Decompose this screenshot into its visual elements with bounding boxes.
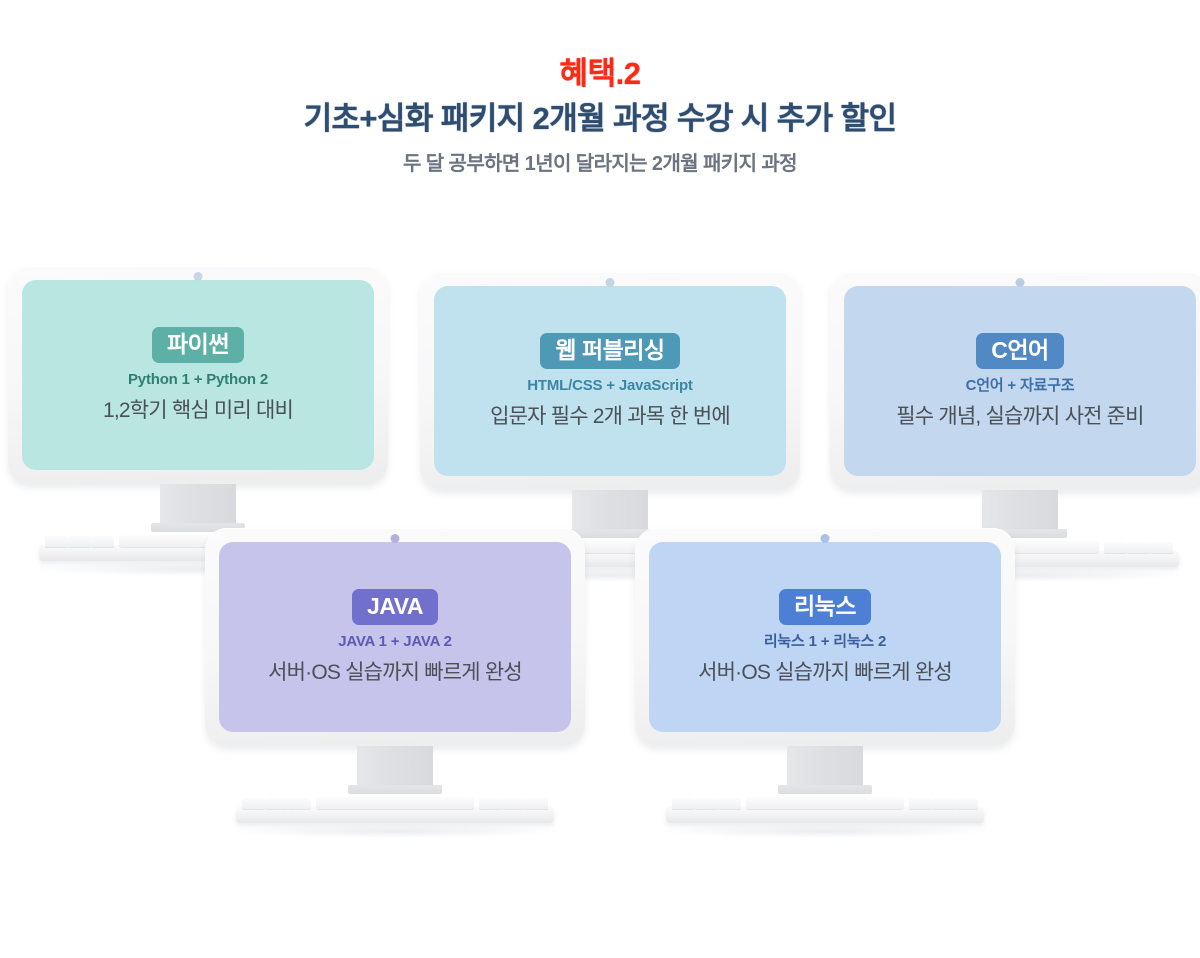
- course-card-linux[interactable]: 리눅스 리눅스 1 + 리눅스 2 서버·OS 실습까지 빠르게 완성: [635, 528, 1015, 824]
- promo-header: 혜택.2 기초+심화 패키지 2개월 과정 수강 시 추가 할인 두 달 공부하…: [0, 0, 1200, 176]
- keyboard-key: [932, 798, 955, 809]
- course-modules: HTML/CSS + JavaScript: [527, 378, 692, 395]
- webcam-icon: [606, 278, 615, 287]
- webcam-icon: [821, 534, 830, 543]
- course-card-python[interactable]: 파이썬 Python 1 + Python 2 1,2학기 핵심 미리 대비: [8, 266, 388, 562]
- keyboard-spacebar: [316, 797, 474, 809]
- course-badge: 웹 퍼블리싱: [540, 333, 679, 369]
- monitor-bezel: JAVA JAVA 1 + JAVA 2 서버·OS 실습까지 빠르게 완성: [205, 528, 585, 746]
- course-tagline: 필수 개념, 실습까지 사전 준비: [896, 404, 1143, 429]
- monitor-screen: 웹 퍼블리싱 HTML/CSS + JavaScript 입문자 필수 2개 과…: [434, 286, 786, 476]
- keyboard-spacebar: [746, 797, 904, 809]
- monitor-bezel: 리눅스 리눅스 1 + 리눅스 2 서버·OS 실습까지 빠르게 완성: [635, 528, 1015, 746]
- keyboard-key: [265, 798, 288, 809]
- keyboard-keys: [242, 796, 548, 809]
- keyboard-key: [242, 798, 265, 809]
- keyboard-key: [909, 798, 932, 809]
- keyboard-key: [695, 798, 718, 809]
- webcam-icon: [391, 534, 400, 543]
- keyboard-base: [236, 807, 554, 823]
- course-card-c-language[interactable]: C언어 C언어 + 자료구조 필수 개념, 실습까지 사전 준비: [830, 272, 1200, 568]
- monitor-screen: C언어 C언어 + 자료구조 필수 개념, 실습까지 사전 준비: [844, 286, 1196, 476]
- keyboard-key: [288, 798, 311, 809]
- keyboard: [242, 796, 548, 824]
- keyboard-key: [1127, 542, 1150, 553]
- course-modules: 리눅스 1 + 리눅스 2: [764, 634, 886, 651]
- monitor-stand: [787, 746, 863, 794]
- keyboard-key: [479, 798, 502, 809]
- keyboard-base: [666, 807, 984, 823]
- keyboard-keys: [672, 796, 978, 809]
- webcam-icon: [1016, 278, 1025, 287]
- page-subtitle: 두 달 공부하면 1년이 달라지는 2개월 패키지 과정: [0, 152, 1200, 176]
- desk-shadow: [660, 824, 990, 838]
- monitor-screen: 파이썬 Python 1 + Python 2 1,2학기 핵심 미리 대비: [22, 280, 374, 470]
- keyboard-key: [1104, 542, 1127, 553]
- monitor-screen: 리눅스 리눅스 1 + 리눅스 2 서버·OS 실습까지 빠르게 완성: [649, 542, 1001, 732]
- monitor-screen: JAVA JAVA 1 + JAVA 2 서버·OS 실습까지 빠르게 완성: [219, 542, 571, 732]
- desk-shadow: [230, 824, 560, 838]
- keyboard-key: [1150, 542, 1173, 553]
- monitor-bezel: 웹 퍼블리싱 HTML/CSS + JavaScript 입문자 필수 2개 과…: [420, 272, 800, 490]
- course-badge: C언어: [976, 333, 1063, 369]
- keyboard-key: [955, 798, 978, 809]
- course-tagline: 1,2학기 핵심 미리 대비: [103, 398, 293, 423]
- keyboard-key: [502, 798, 525, 809]
- monitor-bezel: C언어 C언어 + 자료구조 필수 개념, 실습까지 사전 준비: [830, 272, 1200, 490]
- course-badge: JAVA: [352, 589, 438, 625]
- monitor-stand: [357, 746, 433, 794]
- course-modules: C언어 + 자료구조: [966, 378, 1075, 395]
- monitor-stand: [160, 484, 236, 532]
- webcam-icon: [194, 272, 203, 281]
- keyboard-key: [68, 536, 91, 547]
- course-card-java[interactable]: JAVA JAVA 1 + JAVA 2 서버·OS 실습까지 빠르게 완성: [205, 528, 585, 824]
- keyboard-key: [525, 798, 548, 809]
- benefit-kicker: 혜택.2: [0, 58, 1200, 89]
- course-badge: 리눅스: [779, 589, 871, 625]
- keyboard: [672, 796, 978, 824]
- course-modules: Python 1 + Python 2: [128, 372, 268, 389]
- keyboard-key: [718, 798, 741, 809]
- course-badge: 파이썬: [152, 327, 244, 363]
- course-modules: JAVA 1 + JAVA 2: [338, 634, 452, 651]
- keyboard-key: [91, 536, 114, 547]
- page-title: 기초+심화 패키지 2개월 과정 수강 시 추가 할인: [0, 102, 1200, 136]
- monitor-bezel: 파이썬 Python 1 + Python 2 1,2학기 핵심 미리 대비: [8, 266, 388, 484]
- course-tagline: 서버·OS 실습까지 빠르게 완성: [268, 660, 522, 685]
- keyboard-key: [672, 798, 695, 809]
- keyboard-key: [45, 536, 68, 547]
- course-tagline: 입문자 필수 2개 과목 한 번에: [490, 404, 730, 429]
- course-card-web-publishing[interactable]: 웹 퍼블리싱 HTML/CSS + JavaScript 입문자 필수 2개 과…: [420, 272, 800, 568]
- course-tagline: 서버·OS 실습까지 빠르게 완성: [698, 660, 952, 685]
